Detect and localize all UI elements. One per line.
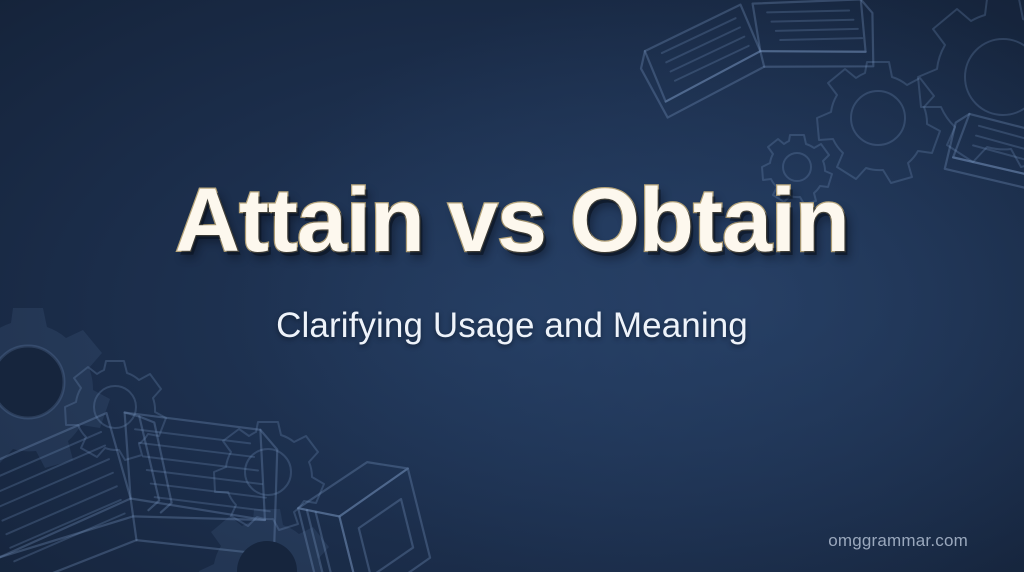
- gear-medium-top-center-right-icon: [812, 52, 944, 184]
- gear-large-top-right-icon: [908, 0, 1024, 172]
- slide-canvas: Attain vs Obtain Clarifying Usage and Me…: [0, 0, 1024, 572]
- page-title: Attain vs Obtain: [0, 176, 1024, 266]
- closed-book-bottom-center-icon: [288, 452, 448, 572]
- page-subtitle: Clarifying Usage and Meaning: [0, 306, 1024, 346]
- site-watermark: omggrammar.com: [828, 531, 968, 551]
- decorative-background: [0, 0, 1024, 572]
- gear-small-left-outline-icon: [60, 352, 170, 462]
- gear-bottom-left-outline-icon: [208, 412, 328, 532]
- open-book-bottom-left-icon: [0, 388, 300, 572]
- open-book-top-right-icon: [640, 0, 900, 200]
- gear-bottom-left-filled-icon: [192, 496, 342, 572]
